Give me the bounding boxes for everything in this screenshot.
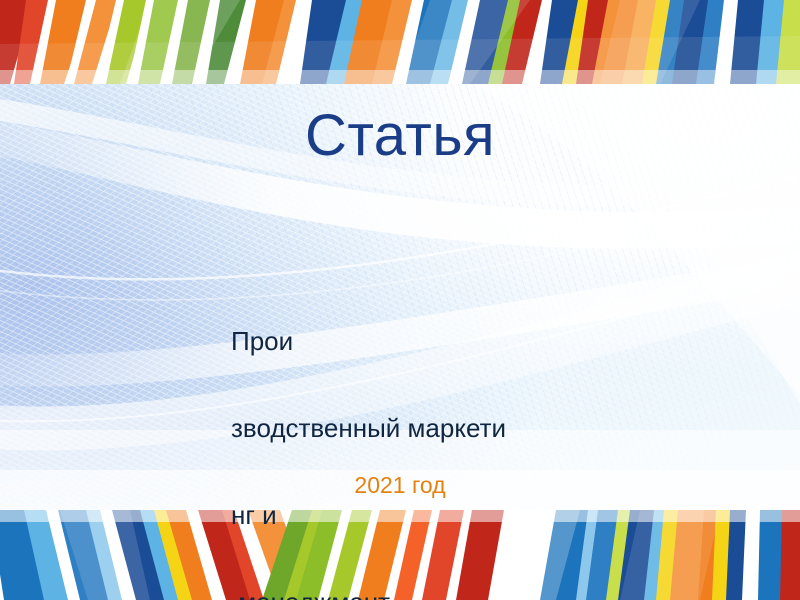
subtitle-line-3: нг и xyxy=(231,501,651,530)
subtitle-line-2: зводственный маркети xyxy=(231,414,651,443)
slide-title: Статья xyxy=(0,107,800,165)
slide-subtitle: Прои зводственный маркети нг и менеджмен… xyxy=(231,269,651,600)
presentation-slide: Статья Прои зводственный маркети нг и ме… xyxy=(0,0,800,600)
subtitle-line-1: Прои xyxy=(231,327,651,356)
decorative-border-top xyxy=(0,0,800,84)
slide-year: 2021 год xyxy=(0,474,800,497)
subtitle-line-4: менеджмент xyxy=(231,588,651,600)
